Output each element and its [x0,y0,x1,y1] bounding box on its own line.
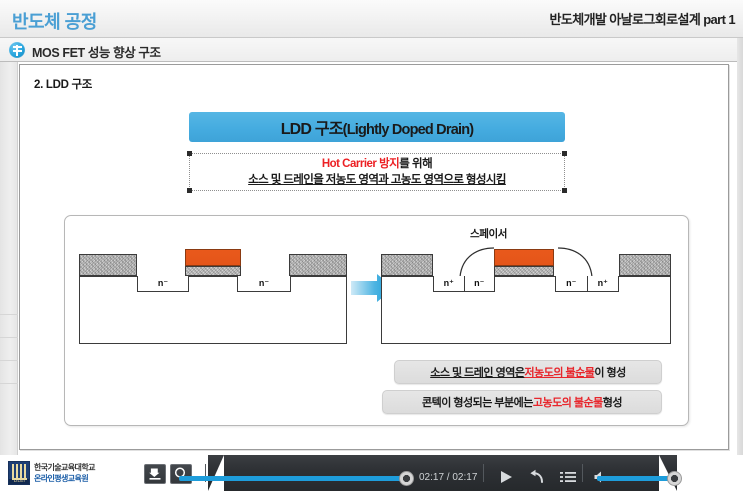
slide-canvas: 2. LDD 구조 LDD 구조(Lightly Doped Drain) Ho… [19,64,729,450]
blue-circle-h-icon [9,42,25,58]
resize-handle-top-left[interactable] [187,151,192,156]
download-icon [145,465,165,483]
well-right-drain-nminus: n⁻ [556,276,587,291]
callout-1-highlight: 저농도의 불순물 [524,364,594,380]
ldd-banner-text: LDD 구조(Lightly Doped Drain) [281,115,474,139]
summary-line-1-highlight: Hot Carrier 방지 [322,158,399,170]
summary-line-2: 소스 및 드레인을 저농도 영역과 고농도 영역으로 형성시킴 [248,172,506,188]
field-oxide-left [79,254,137,276]
gate-oxide-left-diagram [185,266,241,276]
university-logo: DLEI [8,461,30,485]
header-bar: 반도체 공정 반도체개발 아날로그회로설계 part 1 [0,0,743,38]
well-right-drain-nplus: n⁺ [587,276,619,291]
summary-textbox[interactable]: Hot Carrier 방지를 위해 소스 및 드레인을 저농도 영역과 고농도… [189,153,565,191]
field-oxide-right-right [619,254,671,276]
seek-handle[interactable] [399,471,414,486]
gate-oxide-right-diagram [494,266,554,276]
spacer-label: 스페이서 [470,226,507,241]
page-title: 반도체 공정 [12,8,97,34]
slide-heading: 2. LDD 구조 [34,76,92,92]
callout-1-post: 이 형성 [594,364,625,380]
lecture-title: 반도체개발 아날로그회로설계 part 1 [549,9,735,28]
chapter-title: MOS FET 성능 향상 구조 [32,42,161,61]
mosfet-cross-section-conventional: n⁻ n⁻ [79,234,347,344]
play-icon [497,469,515,485]
callout-2-post: 형성 [603,394,622,410]
time-display: 02:17 / 02:17 [419,472,477,483]
well-left-source: n⁻ [137,276,189,292]
volume-handle[interactable] [667,471,682,486]
logo-line-2: 온라인평생교육원 [34,473,95,484]
resize-handle-bottom-left[interactable] [187,188,192,193]
well-right-source-nminus: n⁻ [464,276,495,291]
well-label-right-drain-nplus: n⁺ [598,279,608,288]
well-label-right-source-nminus: n⁻ [474,279,484,288]
callout-low-concentration: 소스 및 드레인 영역은 저농도의 불순물이 형성 [394,360,662,384]
playlist-icon [559,469,577,485]
well-label-right-source-nplus: n⁺ [444,279,454,288]
diagram-container: n⁻ n⁻ [64,215,689,426]
substrate-left [79,276,347,344]
gate-electrode-left-diagram [185,249,241,266]
right-panel-edge [737,38,743,455]
callout-1-pre: 소스 및 드레인 영역은 [430,364,524,380]
gate-electrode-right-diagram [494,249,554,266]
field-oxide-right [289,254,347,276]
field-oxide-right-left [381,254,433,276]
summary-line-2-text: 소스 및 드레인을 저농도 영역과 고농도 영역으로 형성시킴 [248,174,506,186]
well-right-source-nplus: n⁺ [434,276,464,291]
seek-bar-fill [179,476,403,481]
logo-line-1: 한국기술교육대학교 [34,462,95,473]
well-left-drain: n⁻ [237,276,291,292]
callout-high-concentration: 콘텍이 형성되는 부분에는 고농도의 불순물 형성 [382,390,662,414]
left-gutter [0,62,18,455]
ldd-banner-korean: LDD 구조 [281,121,343,138]
play-button[interactable] [497,469,515,485]
ldd-banner: LDD 구조(Lightly Doped Drain) [189,112,565,142]
download-button[interactable] [144,464,166,484]
callout-2-pre: 콘텍이 형성되는 부분에는 [422,394,533,410]
replay-icon [528,469,546,485]
chapter-bar: MOS FET 성능 향상 구조 [0,38,743,62]
university-logo-text: 한국기술교육대학교 온라인평생교육원 [34,462,95,484]
well-label-right-drain-nminus: n⁻ [566,279,576,288]
ldd-banner-english: (Lightly Doped Drain) [343,122,474,138]
divider-right [582,464,583,482]
summary-line-1: Hot Carrier 방지를 위해 [322,157,432,172]
player-control-bar: DLEI 한국기술교육대학교 온라인평생교육원 02:17 / 02:17 [0,455,743,491]
replay-button[interactable] [528,469,546,485]
volume-slider-fill [597,476,675,481]
substrate-right [381,276,671,344]
well-label-left-drain: n⁻ [259,279,269,288]
logo-badge-text: DLEI [10,478,29,483]
player-bar-right-panel [677,455,743,491]
divider-mid [483,464,484,482]
search-button[interactable] [170,464,192,484]
surface-line-left [79,276,347,277]
well-right-drain-group: n⁻ n⁺ [555,276,619,292]
resize-handle-top-right[interactable] [562,151,567,156]
lecture-player-window: 반도체 공정 반도체개발 아날로그회로설계 part 1 MOS FET 성능 … [0,0,743,491]
callout-2-highlight: 고농도의 불순물 [533,394,603,410]
well-right-source-group: n⁺ n⁻ [433,276,495,292]
mosfet-cross-section-ldd: 스페이서 n⁺ n⁻ n⁻ n⁺ [381,234,671,344]
resize-handle-bottom-right[interactable] [562,188,567,193]
seek-bar[interactable] [179,476,403,481]
well-label-left-source: n⁻ [158,279,168,288]
volume-slider[interactable] [597,476,675,481]
playlist-button[interactable] [559,469,577,485]
summary-line-1-rest: 를 위해 [399,158,432,170]
